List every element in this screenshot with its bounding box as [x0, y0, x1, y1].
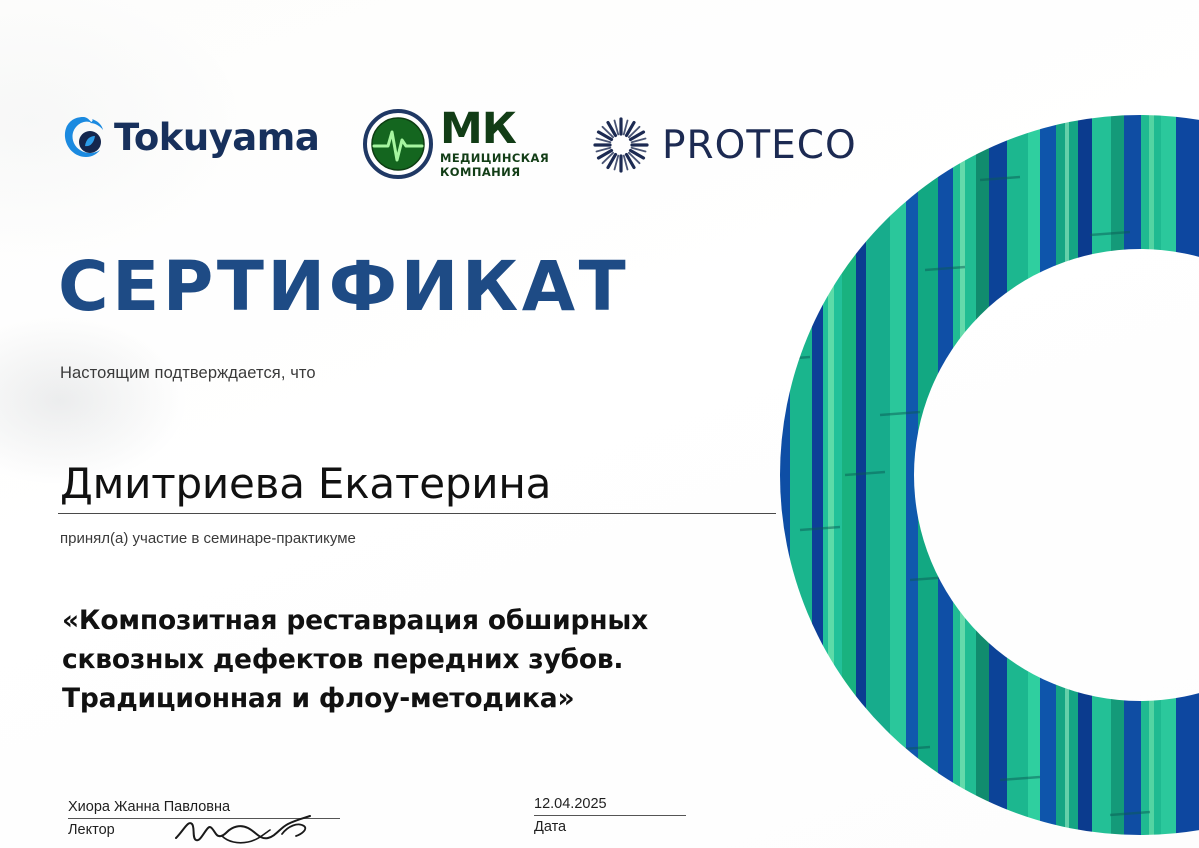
tokuyama-swirl-droplet-icon: [62, 114, 106, 160]
recipient-name: Дмитриева Екатерина: [60, 463, 551, 505]
lecturer-label: Лектор: [68, 822, 368, 839]
seminar-title: «Композитная реставрация обширных сквозн…: [62, 602, 742, 719]
date-value: 12.04.2025: [534, 795, 724, 813]
tokuyama-wordmark: Tokuyama: [114, 119, 319, 156]
radial-burst-icon: [592, 116, 650, 174]
lecturer-name: Хиора Жанна Павловна: [68, 798, 368, 816]
mk-subline-2: КОМПАНИЯ: [440, 166, 549, 179]
mk-subline-1: МЕДИЦИНСКАЯ: [440, 152, 549, 165]
recipient-underline: [58, 513, 776, 514]
date-block: 12.04.2025 Дата: [534, 795, 724, 837]
seminar-title-line-2: сквозных дефектов передних зубов.: [62, 641, 742, 680]
proteco-wordmark: PROTECO: [662, 126, 857, 165]
logo-proteco: PROTECO: [592, 116, 857, 174]
date-rule: [534, 815, 686, 816]
logo-row: Tokuyama МК МЕДИЦИНСКАЯ КОМПАНИЯ: [0, 108, 880, 194]
certificate-title: СЕРТИФИКАТ: [58, 253, 629, 322]
lecturer-block: Хиора Жанна Павловна Лектор: [68, 798, 368, 840]
certificate-subtitle: Настоящим подтверждается, что: [60, 364, 316, 383]
mk-text-block: МК МЕДИЦИНСКАЯ КОМПАНИЯ: [440, 109, 549, 180]
certificate-page: Tokuyama МК МЕДИЦИНСКАЯ КОМПАНИЯ: [0, 0, 1199, 848]
participation-line: принял(а) участие в семинаре-практикуме: [60, 530, 356, 547]
seminar-title-line-1: «Композитная реставрация обширных: [62, 602, 742, 641]
logo-mk: МК МЕДИЦИНСКАЯ КОМПАНИЯ: [362, 108, 549, 180]
date-label: Дата: [534, 819, 724, 836]
logo-tokuyama: Tokuyama: [62, 114, 319, 160]
seminar-title-line-3: Традиционная и флоу-методика»: [62, 680, 742, 719]
lecturer-rule: [68, 818, 340, 819]
heartbeat-circle-icon: [362, 108, 434, 180]
mk-wordmark: МК: [440, 109, 549, 150]
